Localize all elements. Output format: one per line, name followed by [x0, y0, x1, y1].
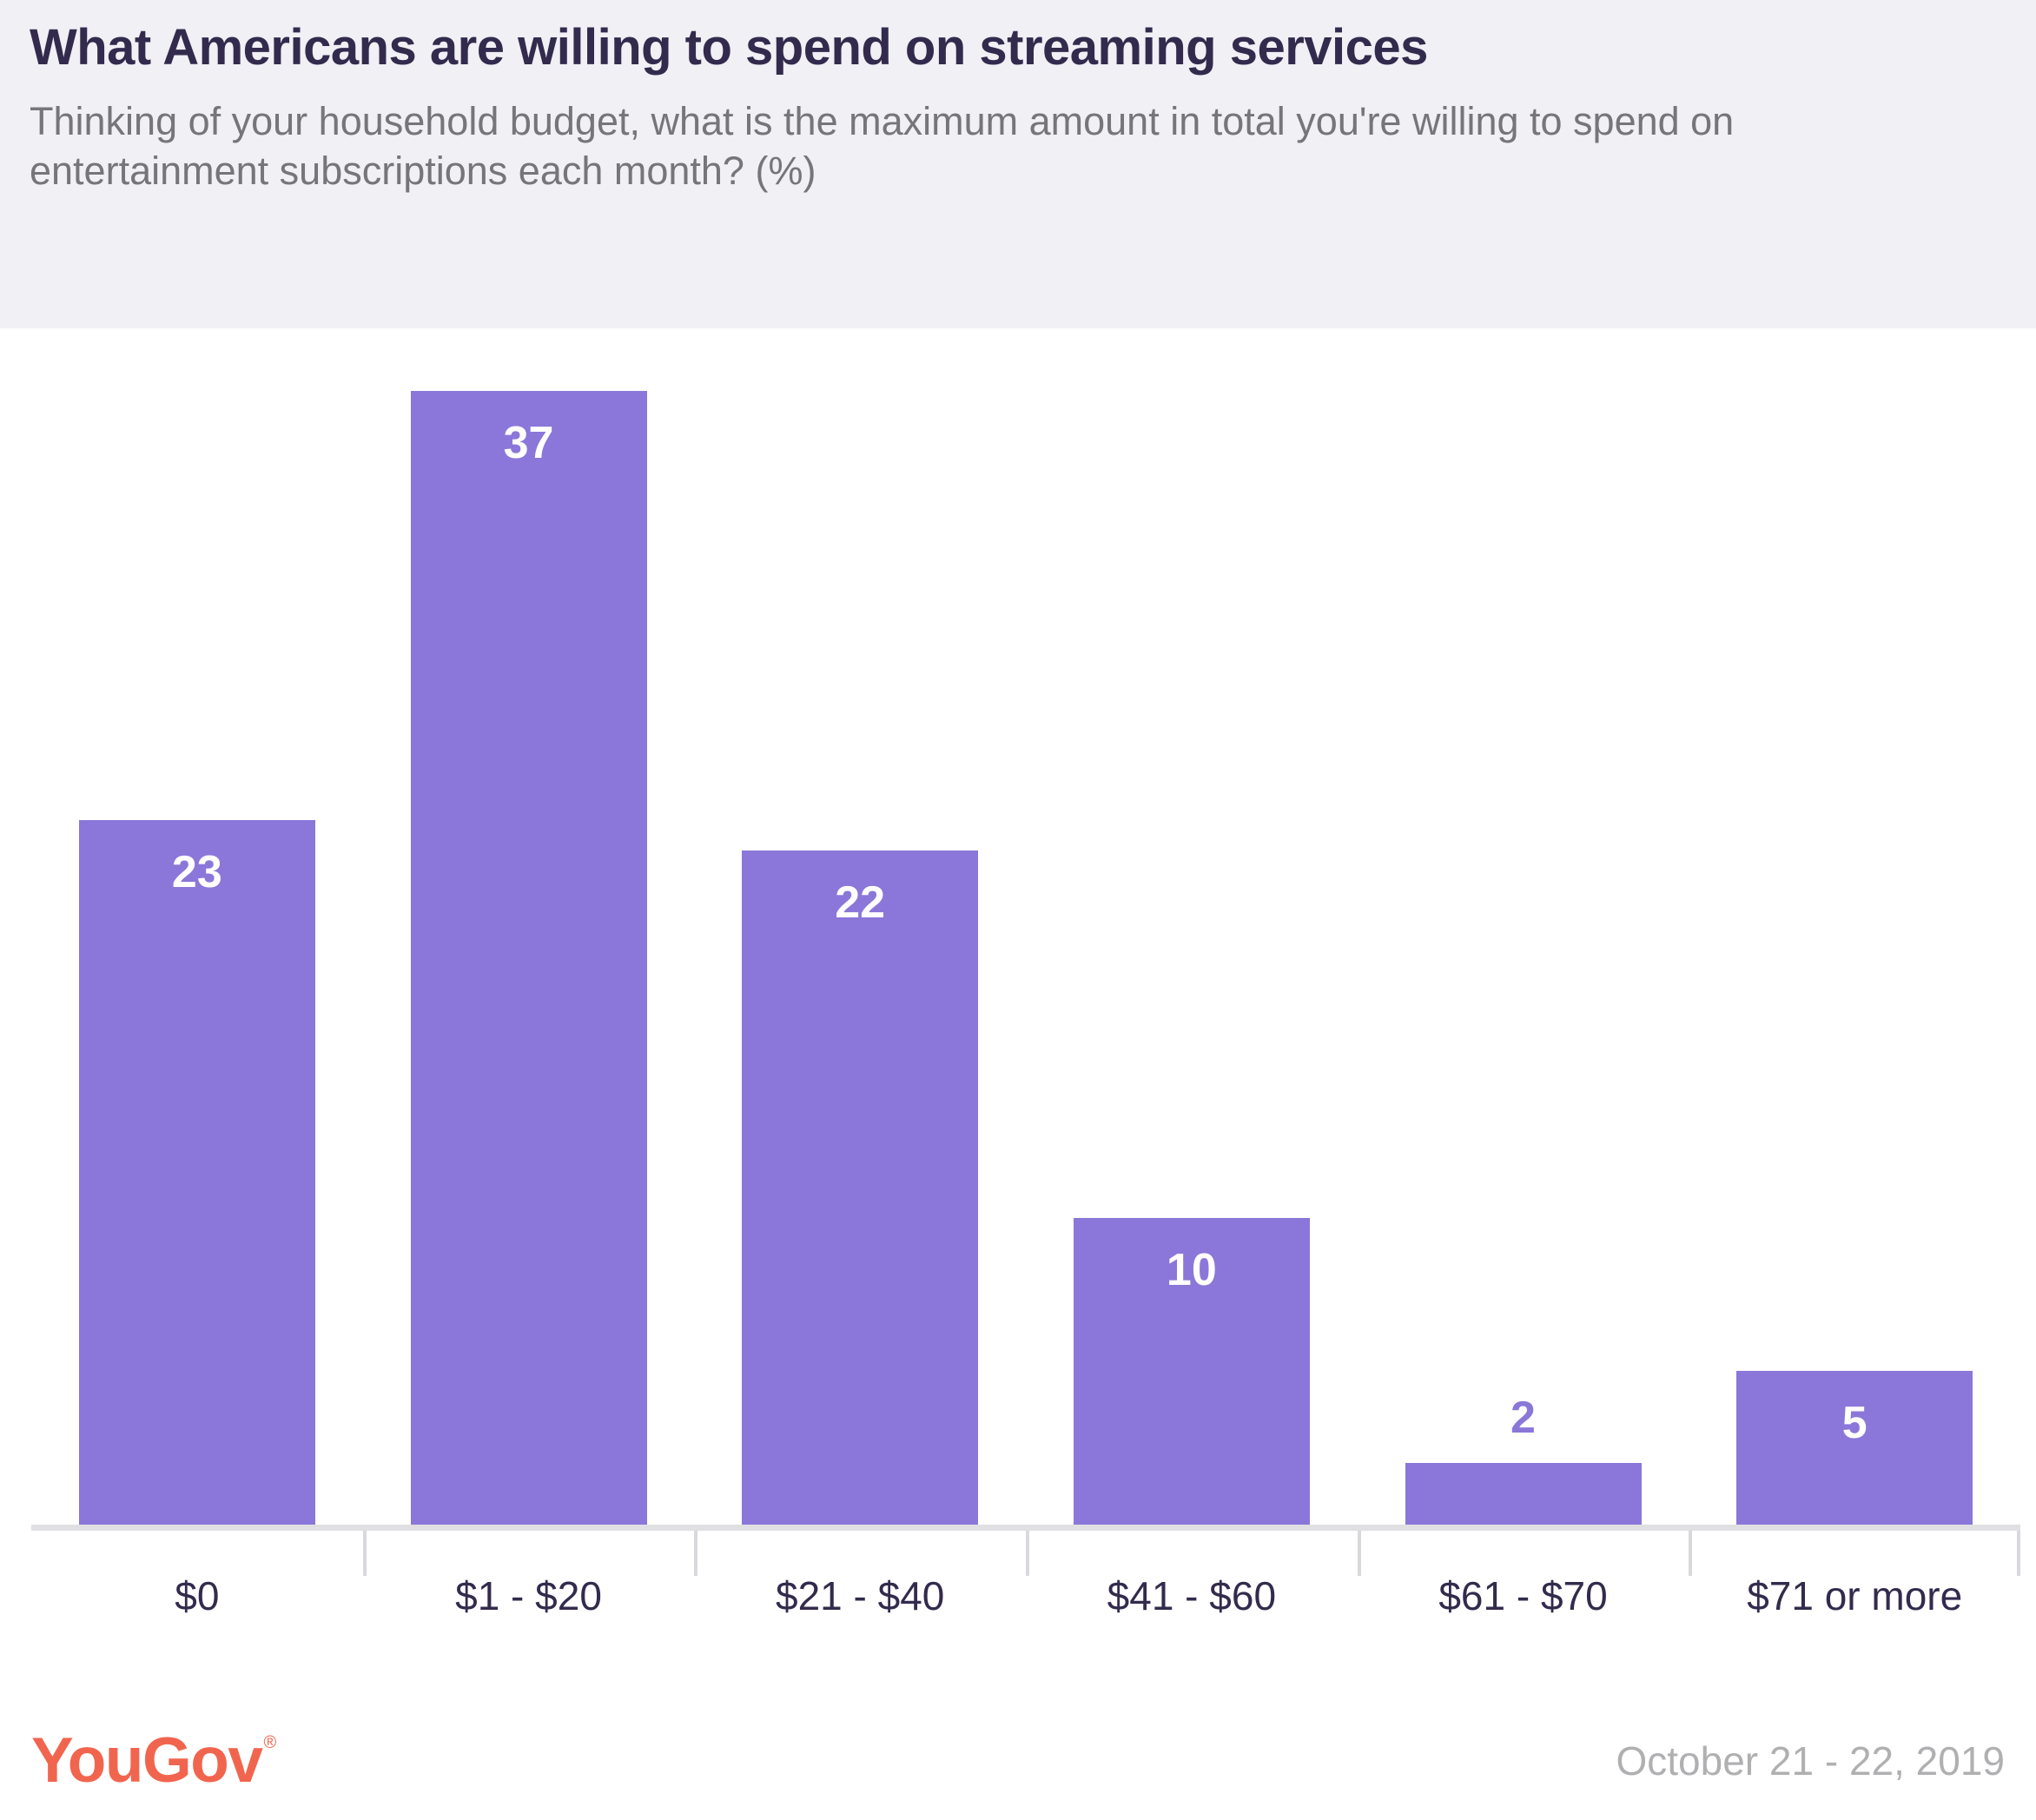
- bar-5[interactable]: 5: [1736, 1371, 1973, 1525]
- chart-plot-area: 23 37 22 10 2: [0, 328, 2036, 1701]
- bar-chart: 23 37 22 10 2: [0, 328, 2036, 1701]
- bar-2[interactable]: 22: [742, 850, 978, 1525]
- chart-subtitle: Thinking of your household budget, what …: [30, 96, 1871, 196]
- x-axis-labels: $0 $1 - $20 $21 - $40 $41 - $60 $61 - $7…: [31, 1572, 2020, 1619]
- bar-3[interactable]: 10: [1074, 1218, 1310, 1525]
- bar-value-5: 5: [1842, 1400, 1867, 1446]
- x-tick-3: [1026, 1531, 1358, 1576]
- x-tick-0: [31, 1531, 363, 1576]
- chart-header: What Americans are willing to spend on s…: [0, 0, 2036, 328]
- x-axis-label-3: $41 - $60: [1026, 1572, 1358, 1619]
- x-axis-label-1: $1 - $20: [363, 1572, 695, 1619]
- bar-slot-3: 10: [1026, 328, 1358, 1525]
- bar-slot-2: 22: [694, 328, 1026, 1525]
- x-tick-4: [1358, 1531, 1689, 1576]
- bar-value-3: 10: [1167, 1248, 1217, 1293]
- bar-value-1: 37: [504, 420, 554, 466]
- bar-1[interactable]: 37: [411, 391, 647, 1525]
- x-axis-ticks: [31, 1531, 2020, 1576]
- bar-group: 23 37 22 10 2: [31, 328, 2020, 1525]
- x-axis-label-2: $21 - $40: [694, 1572, 1026, 1619]
- registered-trademark-icon: ®: [263, 1734, 276, 1751]
- x-tick-2: [694, 1531, 1026, 1576]
- page-title: What Americans are willing to spend on s…: [30, 19, 2006, 77]
- survey-date: October 21 - 22, 2019: [1616, 1741, 2005, 1781]
- yougov-logo: YouGov ®: [31, 1729, 276, 1792]
- x-tick-end: [2017, 1531, 2020, 1576]
- x-axis-label-5: $71 or more: [1689, 1572, 2020, 1619]
- bar-4[interactable]: 2: [1405, 1463, 1642, 1525]
- x-tick-5: [1689, 1531, 2020, 1576]
- bar-slot-1: 37: [363, 328, 695, 1525]
- chart-footer: YouGov ® October 21 - 22, 2019: [0, 1701, 2036, 1820]
- bar-slot-0: 23: [31, 328, 363, 1525]
- yougov-logo-text: YouGov: [31, 1729, 261, 1792]
- x-axis-label-4: $61 - $70: [1358, 1572, 1689, 1619]
- x-axis-label-0: $0: [31, 1572, 363, 1619]
- bar-value-0: 23: [172, 850, 222, 895]
- bar-0[interactable]: 23: [79, 820, 315, 1525]
- bar-value-4: 2: [1510, 1395, 1536, 1440]
- bar-slot-5: 5: [1689, 328, 2020, 1525]
- x-tick-1: [363, 1531, 695, 1576]
- bar-value-2: 22: [835, 880, 885, 925]
- x-axis-line: [31, 1525, 2020, 1531]
- bar-slot-4: 2: [1358, 328, 1689, 1525]
